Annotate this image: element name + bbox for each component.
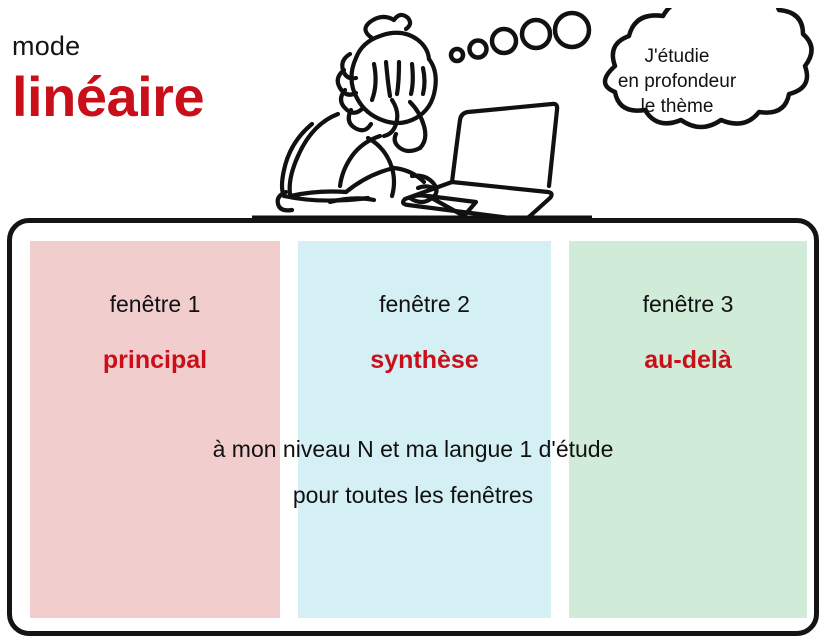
window-panel-1-keyword: principal — [30, 346, 280, 375]
window-panel-1-label: fenêtre 1 — [30, 291, 280, 318]
title-eyebrow: mode — [12, 30, 262, 62]
thought-dot-3 — [492, 29, 516, 53]
thought-bubble: J'étudie en profondeur le thème — [447, 8, 827, 173]
slide-root: mode linéaire — [0, 0, 827, 644]
thought-dot-2 — [470, 41, 487, 58]
page-title: mode linéaire — [12, 30, 262, 128]
window-panel-2-keyword: synthèse — [298, 346, 551, 375]
panel-group: fenêtre 1 principal fenêtre 2 synthèse f… — [12, 223, 814, 631]
thought-line-3: le thème — [577, 94, 777, 119]
window-panel-1[interactable]: fenêtre 1 principal — [30, 241, 280, 618]
window-panel-2[interactable]: fenêtre 2 synthèse — [298, 241, 551, 618]
thought-dot-4 — [522, 20, 550, 48]
window-panel-3-keyword: au-delà — [569, 346, 807, 375]
window-panel-3-label: fenêtre 3 — [569, 291, 807, 318]
windows-container: fenêtre 1 principal fenêtre 2 synthèse f… — [7, 218, 819, 636]
thought-dot-5 — [555, 13, 589, 47]
window-panel-2-label: fenêtre 2 — [298, 291, 551, 318]
thought-line-2: en profondeur — [577, 69, 777, 94]
title-main: linéaire — [12, 66, 262, 128]
thought-dot-1 — [451, 49, 463, 61]
window-panel-3[interactable]: fenêtre 3 au-delà — [569, 241, 807, 618]
thought-line-1: J'étudie — [577, 44, 777, 69]
thought-bubble-text: J'étudie en profondeur le thème — [577, 44, 777, 119]
